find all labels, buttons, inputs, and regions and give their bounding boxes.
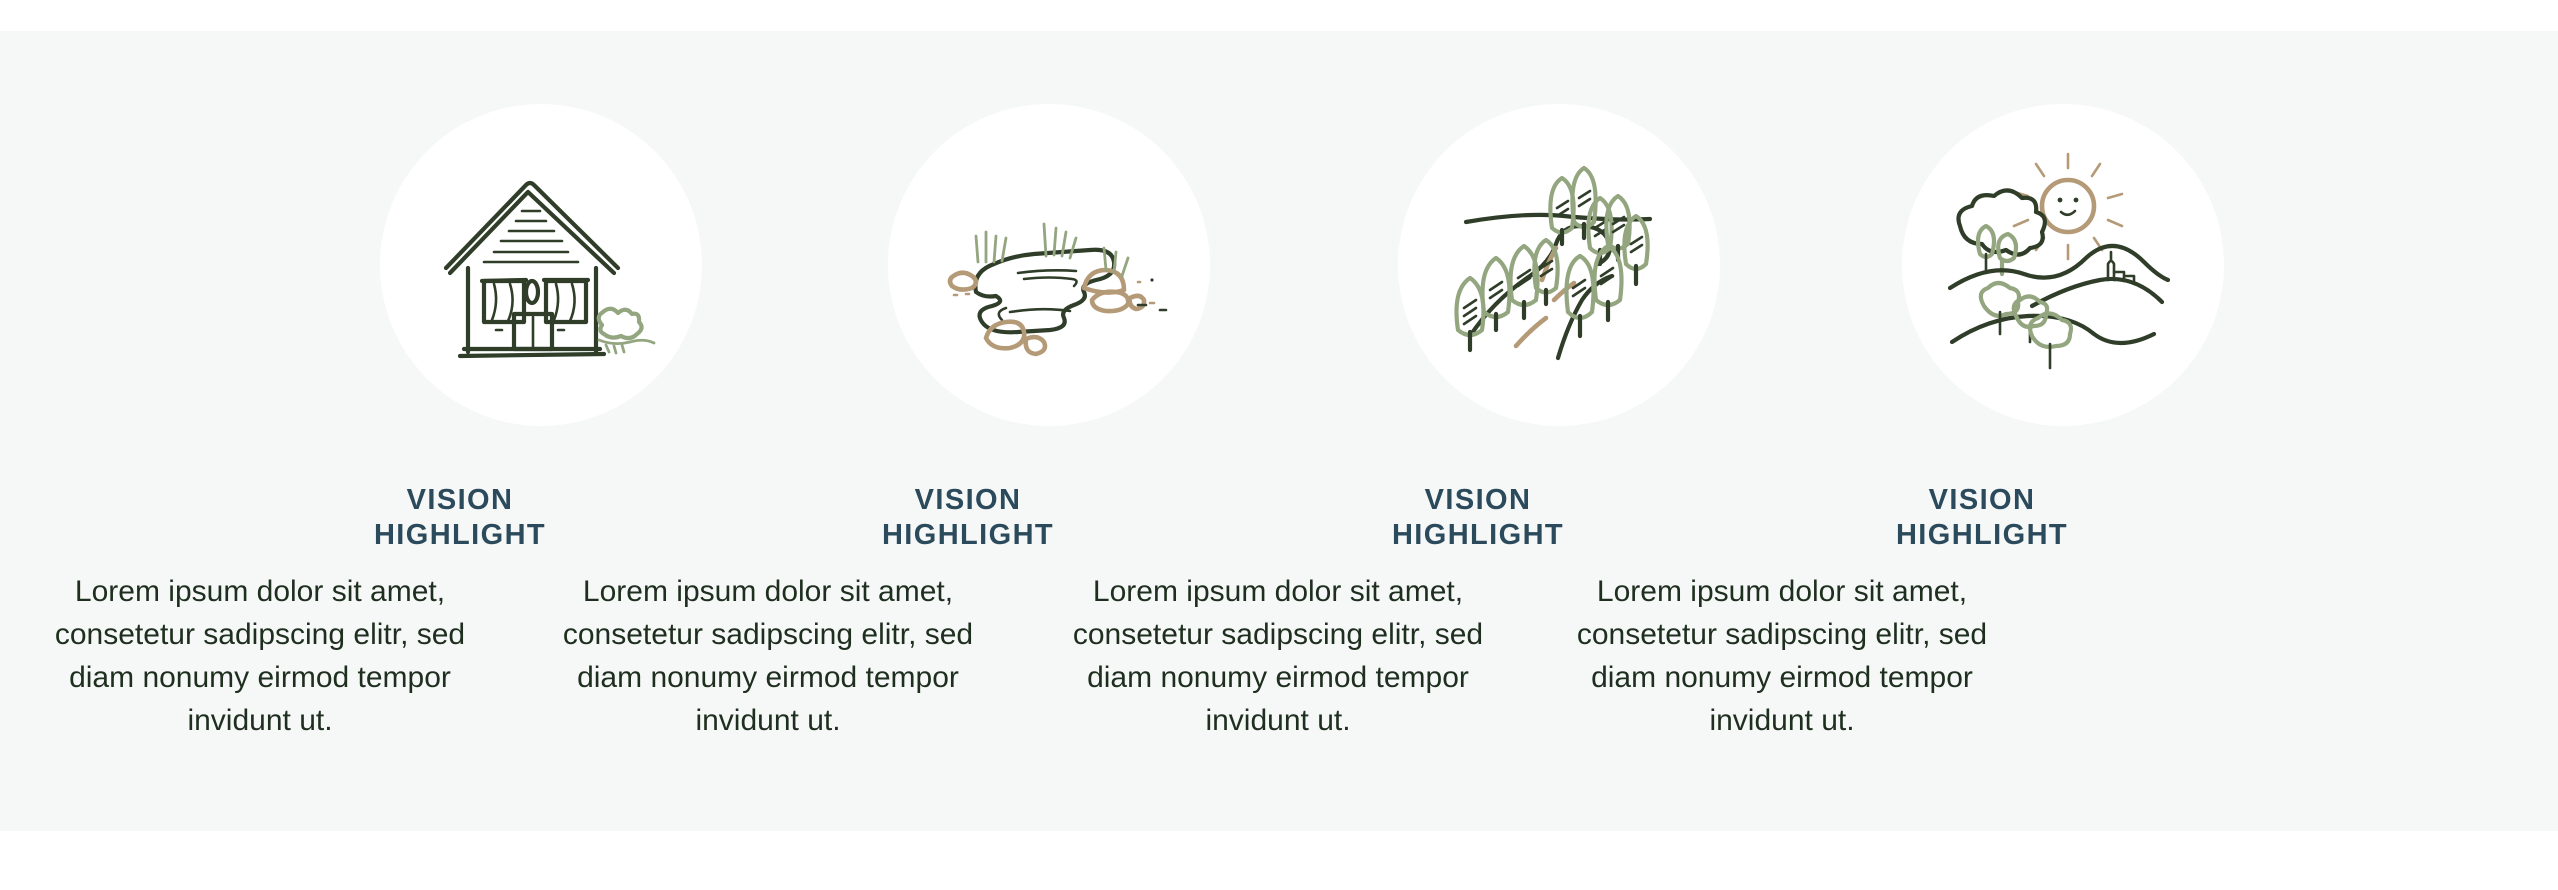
highlight-card-4: VISION HIGHLIGHT Lorem ipsum dolor sit a…	[1550, 31, 2058, 831]
highlights-card-row: VISION HIGHLIGHT Lorem ipsum dolor sit a…	[0, 31, 2558, 831]
card-title-4: VISION HIGHLIGHT	[1852, 483, 2112, 553]
page-root: VISION HIGHLIGHT Lorem ipsum dolor sit a…	[0, 0, 2558, 890]
card-body-3: Lorem ipsum dolor sit amet, consetetur s…	[1048, 571, 1508, 743]
card-body-4: Lorem ipsum dolor sit amet, consetetur s…	[1552, 571, 2012, 743]
hills-sun-sketch-icon-wrap	[1902, 104, 2224, 426]
highlight-card-2: VISION HIGHLIGHT Lorem ipsum dolor sit a…	[536, 31, 1044, 831]
hills-sun-sketch-icon	[1928, 140, 2198, 390]
card-body-2: Lorem ipsum dolor sit amet, consetetur s…	[538, 571, 998, 743]
highlight-card-1: VISION HIGHLIGHT Lorem ipsum dolor sit a…	[30, 31, 538, 831]
card-body-1: Lorem ipsum dolor sit amet, consetetur s…	[30, 571, 490, 743]
highlight-card-3: VISION HIGHLIGHT Lorem ipsum dolor sit a…	[1043, 31, 1551, 831]
